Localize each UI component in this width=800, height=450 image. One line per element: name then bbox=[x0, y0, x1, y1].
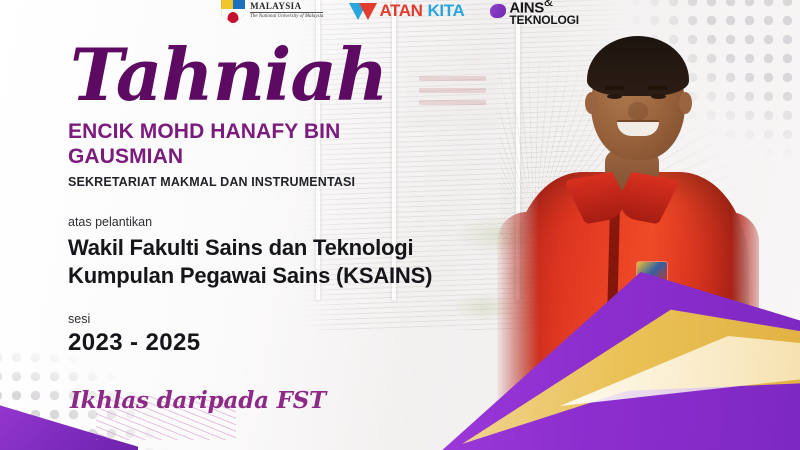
ukm-logo: MALAYSIA The National University of Mala… bbox=[221, 0, 323, 25]
photo-ear-left bbox=[585, 92, 598, 114]
watan-kita-logo: ATAN KITA bbox=[349, 1, 464, 21]
photo-eyebrow-right bbox=[648, 86, 667, 90]
appointment-role-line1: Wakil Fakulti Sains dan Teknologi bbox=[68, 234, 518, 262]
ukm-logo-rule bbox=[250, 12, 323, 13]
appointment-role-line2: Kumpulan Pegawai Sains (KSAINS) bbox=[68, 262, 518, 290]
photo-nose bbox=[628, 102, 648, 120]
signoff-text: Ikhlas daripada FST bbox=[70, 387, 518, 414]
photo-eye-right bbox=[651, 94, 666, 99]
photo-eyebrow-left bbox=[605, 86, 624, 90]
fst-blob-icon bbox=[490, 4, 506, 18]
ukm-shield-icon bbox=[221, 0, 245, 25]
appointment-role: Wakil Fakulti Sains dan Teknologi Kumpul… bbox=[68, 234, 518, 290]
photo-eye-left bbox=[607, 94, 622, 99]
session-value: 2023 - 2025 bbox=[68, 329, 518, 357]
honoree-name: ENCIK MOHD HANAFY BIN GAUSMIAN bbox=[68, 120, 398, 169]
logo-bar: MALAYSIA The National University of Mala… bbox=[0, 0, 800, 28]
ukm-logo-line1: MALAYSIA bbox=[250, 2, 323, 11]
congratulations-poster: MALAYSIA The National University of Mala… bbox=[0, 0, 800, 450]
watan-chevron-red-icon bbox=[359, 3, 377, 20]
fakulti-sains-teknologi-logo: AINS& TEKNOLOGI bbox=[490, 0, 579, 26]
photo-ear-right bbox=[679, 92, 692, 114]
photo-hair bbox=[587, 36, 689, 96]
headline-tahniah: Tahniah bbox=[70, 42, 518, 108]
watan-kita-word2: KITA bbox=[428, 1, 465, 21]
watan-kita-word1: ATAN bbox=[379, 1, 422, 21]
honoree-unit: SEKRETARIAT MAKMAL DAN INSTRUMENTASI bbox=[68, 175, 518, 189]
ukm-logo-line2: The National University of Malaysia bbox=[250, 14, 323, 20]
appointment-label: atas pelantikan bbox=[68, 215, 518, 229]
fst-logo-line2: TEKNOLOGI bbox=[509, 15, 579, 26]
session-label: sesi bbox=[68, 312, 518, 326]
poster-copy: Tahniah ENCIK MOHD HANAFY BIN GAUSMIAN S… bbox=[68, 0, 518, 414]
